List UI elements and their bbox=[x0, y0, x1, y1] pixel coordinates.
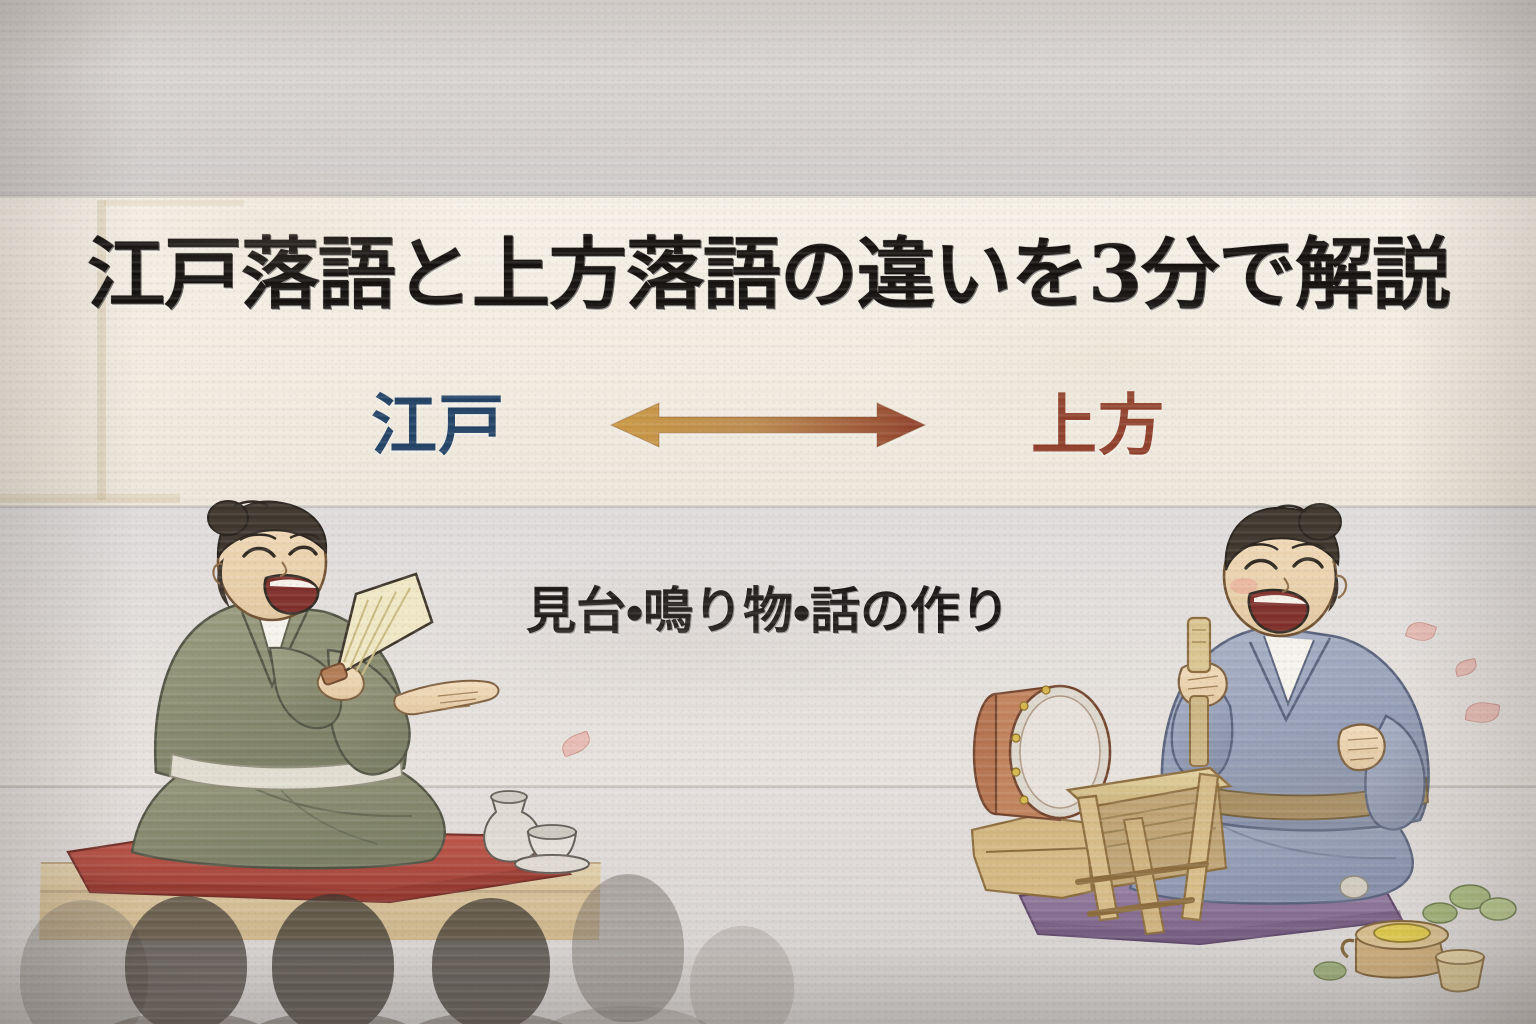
double-headed-arrow-icon bbox=[603, 397, 933, 453]
right-region-label: 上方 bbox=[933, 392, 1263, 458]
page-title: 江戸落語と上方落語の違いを3分で解説 bbox=[0, 236, 1536, 314]
comparison-row: 江戸 上方 bbox=[0, 372, 1536, 478]
left-region-label: 江戸 bbox=[273, 392, 603, 458]
text-layer: 江戸落語と上方落語の違いを3分で解説 江戸 上方 見台・鳴り物・話の bbox=[0, 0, 1536, 1024]
subtitle-caption: 見台・鳴り物・話の作り bbox=[0, 586, 1536, 636]
double-headed-arrow bbox=[603, 395, 933, 455]
slide-canvas: 江戸落語と上方落語の違いを3分で解説 江戸 上方 見台・鳴り物・話の bbox=[0, 0, 1536, 1024]
